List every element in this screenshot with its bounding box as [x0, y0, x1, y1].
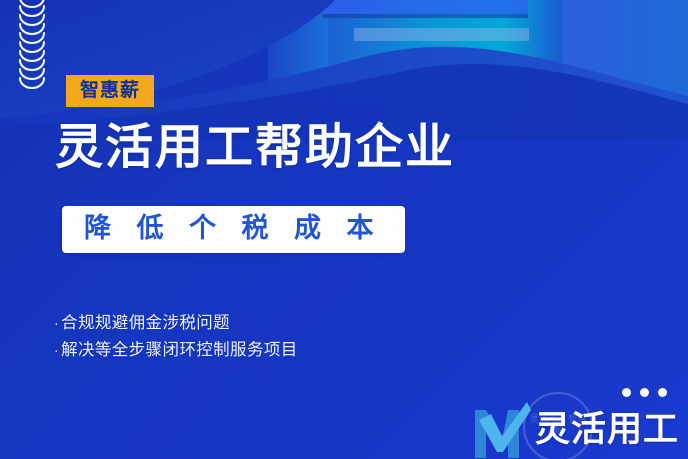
dot-icon — [658, 388, 667, 397]
abstract-shapes-decoration — [268, 0, 688, 130]
bullet-dot-icon: · — [54, 312, 59, 335]
list-item-label: 合规规避佣金涉税问题 — [61, 310, 230, 337]
m-checkmark-logo-icon — [471, 400, 533, 458]
list-item-label: 解决等全步骤闭环控制服务项目 — [61, 337, 298, 364]
dot-icon — [640, 388, 649, 397]
list-item: · 解决等全步骤闭环控制服务项目 — [54, 337, 474, 364]
promo-banner: 智惠薪 灵活用工帮助企业 降 低 个 税 成 本 · 合规规避佣金涉税问题 · … — [0, 0, 688, 459]
dot-icon — [622, 388, 631, 397]
brand-logo: 灵活用工 — [471, 399, 688, 459]
subtitle-plate: 降 低 个 税 成 本 — [62, 206, 405, 253]
subtitle-text: 降 低 个 税 成 本 — [84, 214, 383, 244]
three-dots-decoration — [622, 388, 667, 397]
headline-text: 灵活用工帮助企业 — [55, 121, 455, 174]
brand-tag: 智惠薪 — [66, 75, 154, 107]
coil-arcs-decoration — [17, 0, 47, 91]
feature-list: · 合规规避佣金涉税问题 · 解决等全步骤闭环控制服务项目 — [54, 310, 474, 363]
logo-wordmark: 灵活用工 — [535, 412, 679, 447]
list-item: · 合规规避佣金涉税问题 — [54, 310, 474, 337]
brand-tag-label: 智惠薪 — [80, 80, 140, 101]
bullet-dot-icon: · — [54, 339, 59, 362]
page-title: 灵活用工帮助企业 — [55, 121, 455, 175]
